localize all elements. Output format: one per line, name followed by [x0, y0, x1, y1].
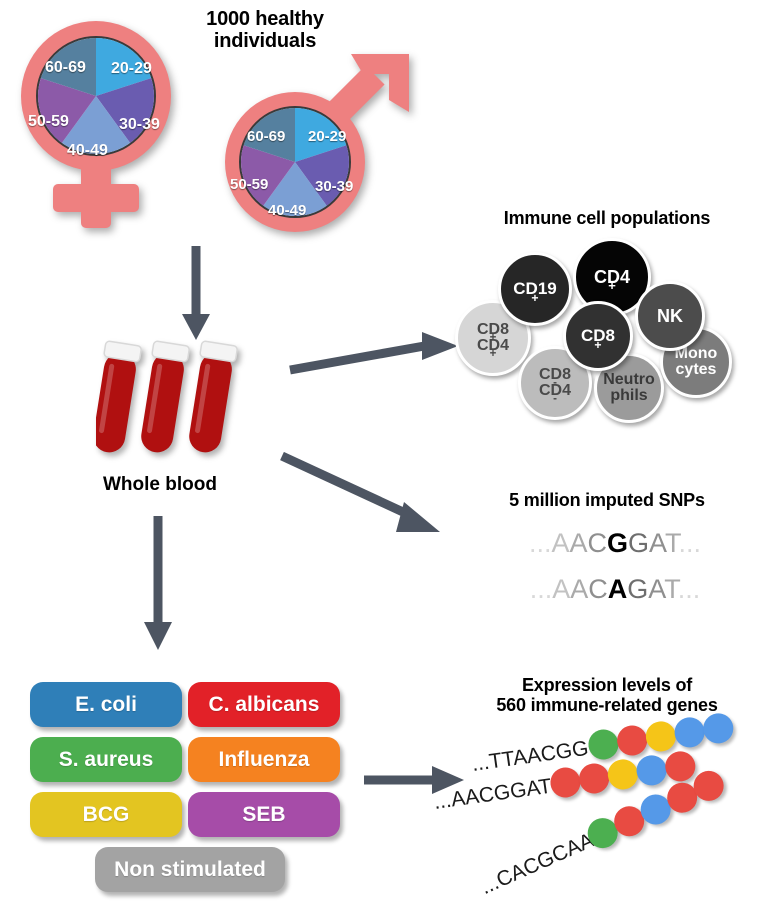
snp-sequence-block: ...AACGGAT... ...AACAGAT...	[470, 528, 760, 620]
stimulus-bcg[interactable]: BCG	[30, 792, 182, 837]
blood-tube-2	[137, 341, 190, 455]
nucleotide-bead	[673, 715, 707, 749]
stimulus-non-stimulated[interactable]: Non stimulated	[95, 847, 285, 892]
strand-sequence-text: ...CACGCAA	[477, 829, 598, 900]
age-pie-male	[241, 108, 349, 216]
blood-tube-1	[96, 341, 142, 455]
nucleotide-bead	[577, 762, 611, 796]
nucleotide-bead	[701, 711, 735, 745]
arrow-blood-to-immune-cells	[288, 330, 463, 380]
stimulus-s-aureus[interactable]: S. aureus	[30, 737, 182, 782]
nucleotide-bead	[586, 728, 620, 762]
cell-nk: NK	[635, 281, 705, 351]
stimulus-label: BCG	[83, 803, 130, 827]
male-symbol-svg	[203, 52, 418, 247]
stimulus-influenza[interactable]: Influenza	[188, 737, 340, 782]
page-title-individuals: 1000 healthy individuals	[170, 8, 360, 53]
male-symbol: 20-29 30-39 40-49 50-59 60-69	[203, 52, 418, 247]
arrow-individuals-to-blood	[176, 246, 216, 342]
arrow-blood-to-snps	[280, 452, 455, 542]
snp-sequence-row: ...AACGGAT...	[470, 528, 760, 559]
stimulus-label: E. coli	[75, 693, 137, 717]
blood-tube-3	[185, 341, 238, 455]
stimulus-c-albicans[interactable]: C. albicans	[188, 682, 340, 727]
nucleotide-bead	[606, 757, 640, 791]
section-title-snps: 5 million imputed SNPs	[452, 490, 762, 510]
stimulus-label: SEB	[242, 803, 285, 827]
stimulus-label: C. albicans	[209, 693, 320, 717]
nucleotide-bead	[615, 724, 649, 758]
section-title-expression: Expression levels of 560 immune-related …	[448, 675, 766, 715]
figure-canvas: 1000 healthy individuals 20-29 30-39 40-…	[0, 0, 771, 922]
arrow-blood-to-stimuli	[138, 516, 178, 652]
cell-cd19p: CD19+	[498, 252, 572, 326]
nucleotide-bead	[635, 753, 669, 787]
nucleotide-bead	[644, 719, 678, 753]
gene-expression-strands: ...TTAACGG...AACGGAT...CACGCAA	[452, 720, 771, 915]
label-whole-blood: Whole blood	[55, 474, 265, 496]
stimuli-panel: E. coliC. albicansS. aureusInfluenzaBCGS…	[30, 682, 350, 912]
snp-sequence-row: ...AACAGAT...	[470, 574, 760, 605]
cell-cd8p: CD8+	[563, 301, 633, 371]
stimulus-seb[interactable]: SEB	[188, 792, 340, 837]
stimulus-label: Non stimulated	[114, 858, 266, 882]
stimulus-label: Influenza	[218, 748, 309, 772]
age-pie-female	[38, 38, 154, 154]
nucleotide-bead	[548, 766, 582, 800]
female-symbol: 20-29 30-39 40-49 50-59 60-69	[6, 16, 186, 236]
stimulus-label: S. aureus	[59, 748, 154, 772]
stimulus-e-coli[interactable]: E. coli	[30, 682, 182, 727]
immune-cell-cluster: CD8+CD4+ CD19+ CD8-CD4- CD8+ CD4+ NK Neu…	[455, 238, 765, 423]
female-symbol-svg	[6, 16, 186, 236]
section-title-immune-cells: Immune cell populations	[452, 208, 762, 228]
blood-tubes	[96, 336, 256, 466]
